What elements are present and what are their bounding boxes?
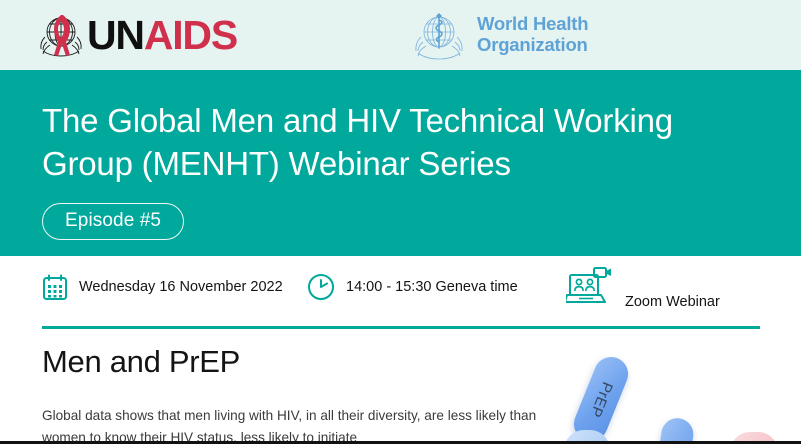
episode-badge: Episode #5 [42, 203, 184, 240]
who-word-line2: Organization [477, 35, 588, 56]
webinar-flyer: UNAIDS [0, 0, 801, 444]
unaids-word-aids: AIDS [144, 15, 237, 56]
section-body-text: Global data shows that men living with H… [42, 405, 542, 444]
who-logo: World Health Organization [410, 10, 588, 60]
event-time-text: 14:00 - 15:30 Geneva time [346, 279, 518, 295]
unaids-wordmark: UNAIDS [87, 15, 237, 56]
who-wordmark: World Health Organization [477, 14, 588, 55]
logo-band: UNAIDS [0, 0, 801, 70]
hero-banner: The Global Men and HIV Technical Working… [0, 70, 801, 256]
event-info-bar: Wednesday 16 November 2022 14:00 - 15:30… [0, 256, 801, 318]
event-date: Wednesday 16 November 2022 [42, 256, 283, 318]
clock-icon [307, 273, 335, 301]
who-laurel-globe-asclepius-icon [410, 10, 468, 60]
event-time: 14:00 - 15:30 Geneva time [307, 256, 518, 318]
prep-pill-large-label: PrEP [586, 379, 615, 419]
section-divider [42, 326, 760, 329]
event-platform-text: Zoom Webinar [625, 294, 720, 310]
unaids-word-un: UN [87, 15, 144, 56]
prep-pill-small: EP [653, 416, 696, 444]
who-word-line1: World Health [477, 14, 588, 35]
event-date-text: Wednesday 16 November 2022 [79, 279, 283, 295]
prep-pill-pink-faded [730, 432, 778, 444]
unaids-logo: UNAIDS [36, 11, 237, 59]
webinar-title: The Global Men and HIV Technical Working… [42, 100, 762, 186]
laptop-webinar-icon [566, 267, 612, 307]
un-laurel-globe-ribbon-icon [36, 11, 86, 59]
event-platform: Zoom Webinar [566, 256, 720, 318]
calendar-icon [42, 274, 68, 301]
prep-pills-illustration: PrEP EP [556, 330, 801, 444]
section-title: Men and PrEP [42, 345, 240, 379]
